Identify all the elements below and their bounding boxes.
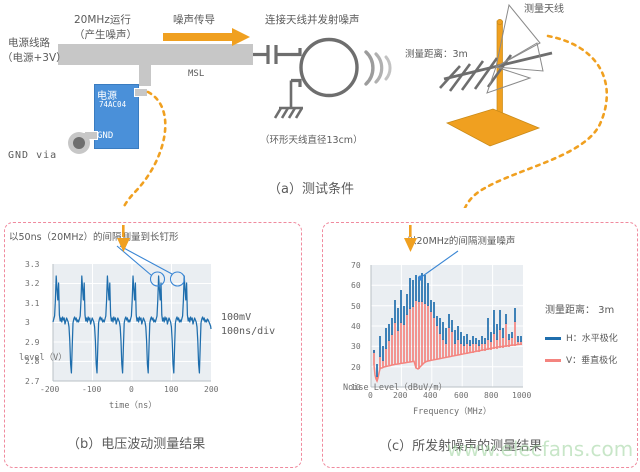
panel-a-test-conditions: 电源 74AC04 GND GND via 电源线路 （电源+3V） 20MHz… (0, 0, 640, 208)
gnd-via-hole (73, 137, 85, 149)
panel-c-ytick-40: 40 (351, 322, 361, 331)
panel-b-xtick--100: -100 (82, 385, 101, 394)
legend-label-v: V：垂直极化 (566, 353, 617, 366)
panel-b-voltage-scale: 100mV (221, 312, 251, 323)
coupling-capacitor (253, 45, 291, 64)
panel-c-ytick-20: 20 (351, 363, 361, 372)
panel-a-caption: （a）测试条件 (268, 178, 354, 197)
ic-vcc-pad (134, 88, 148, 97)
panel-b-plot-area (53, 264, 211, 381)
panel-c-ytick-60: 60 (351, 281, 361, 290)
panel-c-measurement-distance: 测量距离： 3m (545, 301, 614, 316)
panel-b-ytick-2.9: 2.9 (25, 338, 39, 347)
panel-b-xtick-0: 0 (129, 385, 134, 394)
ic-gnd-pin-label: GND (97, 131, 113, 141)
panel-c-xtick-600: 600 (454, 391, 468, 400)
loop-antenna-note: （环形天线直径13cm） (260, 135, 363, 146)
panel-c-x-axis-title: Frequency（MHz） (413, 405, 491, 417)
panel-b-frame: 以50ns（20MHz）的间隔测量到长钉形 (4, 222, 302, 468)
site-watermark: www.elecfans.com (447, 437, 633, 461)
power-trace-right-end (247, 44, 253, 65)
dashed-connector-to-panel-c (461, 36, 607, 208)
panel-b-xtick-100: 100 (164, 385, 178, 394)
legend-swatch-h (545, 337, 561, 340)
panel-b-ytick-3.1: 3.1 (25, 299, 39, 308)
power-trace-stub (139, 64, 151, 86)
panel-c-ytick-70: 70 (351, 261, 361, 270)
msl-label: MSL (188, 69, 204, 80)
power-trace-horizontal (58, 44, 250, 65)
panel-c-plot-area (371, 265, 523, 387)
panel-b-ytick-3.3: 3.3 (25, 260, 39, 269)
legend-label-h: H：水平极化 (566, 331, 618, 344)
legend-swatch-v (545, 359, 561, 362)
panel-b-caption: （b）电压波动测量结果 (67, 433, 205, 452)
measurement-antenna-label: 测量天线 (524, 4, 564, 16)
power-line-sublabel: （电源+3V） (2, 52, 67, 64)
loop-antenna (291, 40, 357, 96)
power-line-label: 电源线路 (8, 37, 50, 49)
antenna-connect-label: 连接天线并发射噪声 (265, 14, 360, 26)
panel-b-xtick-200: 200 (204, 385, 218, 394)
panel-b-time-scale: 100ns/div (221, 326, 275, 337)
panel-c-ytick-30: 30 (351, 342, 361, 351)
measurement-antenna-yagi (440, 5, 552, 146)
noise-conduction-label: 噪声传导 (173, 14, 215, 26)
radiation-waves (366, 52, 390, 84)
panel-c-frame: 以20MHz的间隔测量噪声 (322, 222, 638, 468)
panel-b-annotation: 以50ns（20MHz）的间隔测量到长钉形 (9, 229, 178, 243)
panel-b-ytick-3.0: 3 (25, 318, 30, 327)
panel-c-xtick-1000: 1000 (512, 391, 531, 400)
clock-label: 20MHz运行 (74, 14, 131, 26)
ground-symbol (275, 81, 303, 119)
panel-b-xtick--200: -200 (40, 385, 59, 394)
panel-b-ytick-3.2: 3.2 (25, 279, 39, 288)
panel-c-ytick-50: 50 (351, 302, 361, 311)
measurement-distance-label-a: 测量距离：3m (405, 49, 468, 60)
panel-c-y-axis-title: Noise Level（dBuV/m） (343, 381, 447, 393)
ic-part-number-label: 74AC04 (99, 100, 126, 109)
panel-c-xtick-800: 800 (484, 391, 498, 400)
clock-sublabel: （产生噪声） (74, 29, 137, 41)
gnd-via-label: GND via (8, 150, 57, 162)
panel-b-x-axis-title: time（ns） (109, 399, 157, 411)
panel-c-annotation: 以20MHz的间隔测量噪声 (407, 233, 515, 247)
figure-root: 电源 74AC04 GND GND via 电源线路 （电源+3V） 20MHz… (0, 0, 640, 472)
panel-b-ytick-2.7: 2.7 (25, 377, 39, 386)
panel-b-y-axis-title: level（V） (19, 351, 67, 363)
